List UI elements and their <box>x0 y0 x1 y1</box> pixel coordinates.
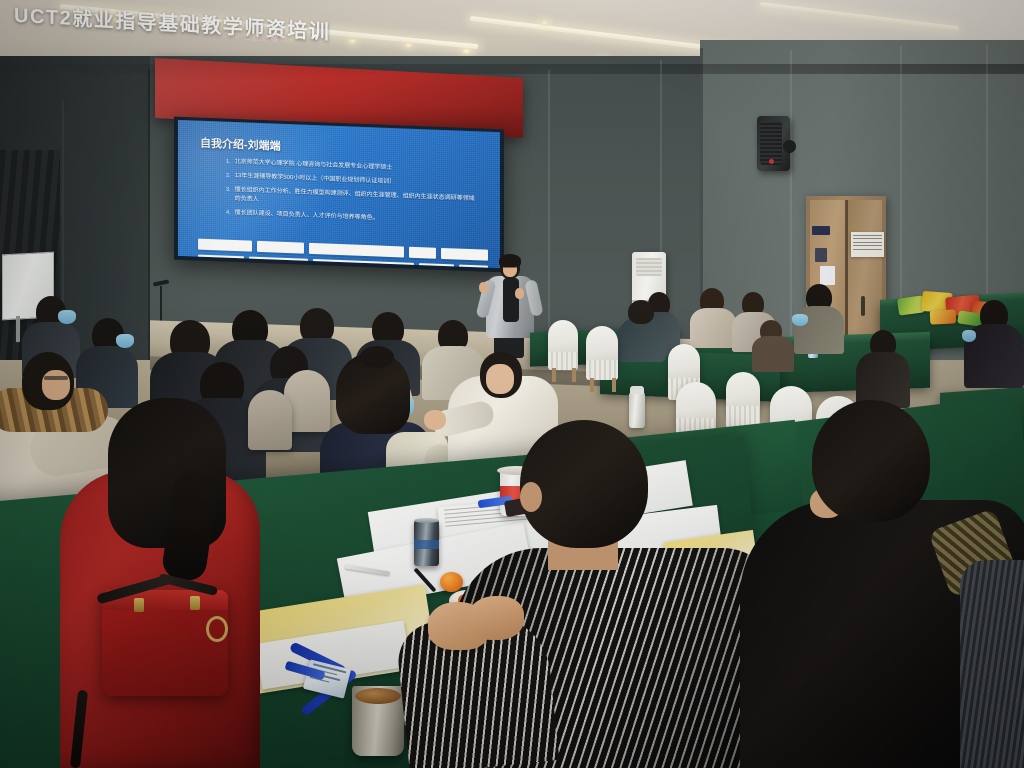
wall-ceiling-edge <box>0 64 1024 74</box>
bullet-number: 1. <box>226 158 231 165</box>
face-mask-icon <box>962 330 976 342</box>
slide-tag <box>198 239 252 252</box>
presenter-hand-right <box>515 288 524 299</box>
bullet-number: 4. <box>226 209 231 216</box>
presenter-hand-left <box>479 282 488 293</box>
door-notice-small <box>820 266 835 285</box>
notice-line <box>853 235 882 236</box>
tangerine <box>440 572 463 592</box>
bullet-number: 3. <box>226 186 231 193</box>
ceiling-downlight-5 <box>404 42 413 48</box>
handbag-clasp-icon <box>190 596 200 610</box>
striped-shirt-man-head <box>520 420 648 548</box>
ceiling-downlight-8 <box>540 20 549 26</box>
chair-leg <box>572 368 576 382</box>
bullet-text: 13年生涯辅导教学500小时以上（中国职业规划师认证培训） <box>235 172 396 187</box>
striped-shirt-man-hand-right <box>468 596 524 640</box>
slide-title: 自我介绍-刘端端 <box>200 135 281 154</box>
face-mask-icon <box>58 310 76 324</box>
face-mask-icon <box>792 314 808 326</box>
projection-screen: 自我介绍-刘端端 1. 北京师范大学心理学院 心理咨询与社会发展专业心理学硕士 … <box>178 120 500 268</box>
handbag-ring-icon <box>206 616 228 642</box>
fur-collar-woman-face <box>42 370 70 400</box>
grey-striped-person <box>960 560 1024 768</box>
notice-line <box>853 242 882 243</box>
bullet-number: 2. <box>226 172 231 179</box>
can-top <box>414 518 439 523</box>
wall-notice-paper <box>851 232 884 257</box>
slide-tag <box>257 241 304 254</box>
door-control-panel[interactable] <box>815 248 827 262</box>
air-conditioner-vent <box>636 258 662 276</box>
chair-leg <box>612 378 616 392</box>
thermos-cap <box>630 386 644 394</box>
door-sign-plate <box>812 226 830 235</box>
coffee-liquid <box>355 688 401 704</box>
seat-back <box>248 390 292 450</box>
striped-shirt-man-ear <box>520 482 542 512</box>
presenter-hair <box>499 254 521 267</box>
attendee-head <box>628 300 654 324</box>
white-sweater-woman-face <box>486 364 514 394</box>
can-label <box>414 540 439 549</box>
training-room-photo: UCT2就业指导基础教学师资培训 —— 仁能达教育 自我介绍-刘端端 1. 北京… <box>0 0 1024 768</box>
glasses-icon <box>44 376 68 380</box>
slide-tag <box>441 248 488 261</box>
attendee-body <box>690 308 736 348</box>
chair-leg <box>590 378 594 392</box>
hair-bun <box>360 346 394 368</box>
black-jacket-man-head <box>812 400 930 522</box>
whiteboard-stand <box>16 316 20 342</box>
presenter-top <box>503 278 519 322</box>
bullet-text: 擅长组织内工作分析、胜任力模型构建测评、组织内生涯管理、组织内生涯状态调研等领域… <box>235 186 476 213</box>
slide-tag <box>309 243 404 258</box>
snack-package <box>930 309 957 324</box>
white-sweater-woman-hand <box>424 410 446 430</box>
attendee-body <box>752 336 794 372</box>
slide-bullet-list: 1. 北京师范大学心理学院 心理咨询与社会发展专业心理学硕士 2. 13年生涯辅… <box>226 158 476 233</box>
wall-seam-5 <box>986 44 988 324</box>
notice-line <box>853 249 882 250</box>
thermos-flask <box>629 392 645 428</box>
wall-seam-1 <box>548 70 550 360</box>
door-handle[interactable] <box>861 296 865 316</box>
bullet-text: 擅长团队建设、项目负责人、人才评价与培养等角色。 <box>235 209 379 224</box>
ceiling-downlight-6 <box>462 48 471 54</box>
notice-line <box>853 245 882 246</box>
speaker-mount-bracket <box>783 140 796 153</box>
face-mask-icon <box>116 334 134 348</box>
speaker-led-icon <box>769 159 774 164</box>
handbag-clasp-icon <box>134 598 144 612</box>
slide-tag <box>409 247 436 259</box>
chair-skirt <box>586 360 618 380</box>
chair-leg <box>552 368 556 382</box>
notice-line <box>853 238 882 239</box>
